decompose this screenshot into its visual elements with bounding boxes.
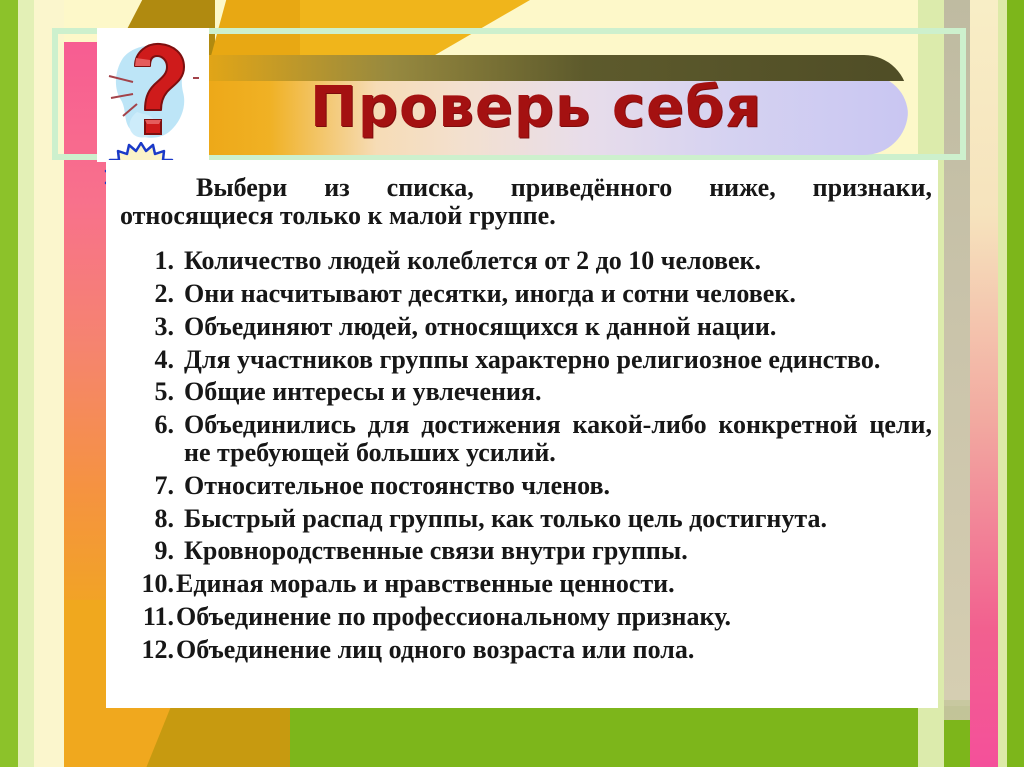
list-item: 1.Количество людей колеблется от 2 до 10…: [116, 247, 932, 275]
left-green-stripe: [0, 0, 18, 767]
list-item-text: Объединение лиц одного возраста или пола…: [176, 636, 932, 664]
list-item: 5.Общие интересы и увлечения.: [116, 378, 932, 406]
list-item-number: 9.: [116, 537, 184, 565]
list-item-text: Единая мораль и нравственные ценности.: [176, 570, 932, 598]
list-item-text: Объединились для достижения какой-либо к…: [184, 411, 932, 467]
list-item: 3.Объединяют людей, относящихся к данной…: [116, 313, 932, 341]
list-item-number: 4.: [116, 346, 184, 374]
list-item: 2.Они насчитывают десятки, иногда и сотн…: [116, 280, 932, 308]
right-green-stripe: [1007, 0, 1024, 767]
list-item-number: 8.: [116, 505, 184, 533]
right-pink-stripe: [970, 0, 998, 767]
list-item: 9.Кровнородственные связи внутри группы.: [116, 537, 932, 565]
list-item-text: Быстрый распад группы, как только цель д…: [184, 505, 932, 533]
list-item: 10.Единая мораль и нравственные ценности…: [116, 570, 932, 598]
list-item-number: 3.: [116, 313, 184, 341]
list-item-text: Количество людей колеблется от 2 до 10 ч…: [184, 247, 932, 275]
list-item-number: 11.: [116, 603, 176, 631]
list-item: 11.Объединение по профессиональному приз…: [116, 603, 932, 631]
list-item: 6.Объединились для достижения какой-либо…: [116, 411, 932, 467]
list-item-text: Они насчитывают десятки, иногда и сотни …: [184, 280, 932, 308]
criteria-list: 1.Количество людей колеблется от 2 до 10…: [116, 247, 932, 664]
page-title: Проверь себя: [310, 62, 870, 152]
list-item-text: Объединение по профессиональному признак…: [176, 603, 932, 631]
intro-text-value: Выбери из списка, приведённого ниже, при…: [120, 173, 932, 230]
bottom-green-band: [290, 706, 970, 767]
list-item-number: 6.: [116, 411, 184, 439]
list-item: 7.Относительное постоянство членов.: [116, 472, 932, 500]
intro-text: Выбери из списка, приведённого ниже, при…: [116, 174, 932, 229]
list-item-number: 12.: [116, 636, 176, 664]
list-item-text: Объединяют людей, относящихся к данной н…: [184, 313, 932, 341]
slide-canvas: Проверь себя 3 Выбери из списка, приведё…: [0, 0, 1024, 767]
list-item: 4.Для участников группы характерно религ…: [116, 346, 932, 374]
list-item-number: 1.: [116, 247, 184, 275]
list-item-number: 5.: [116, 378, 184, 406]
list-item-number: 10.: [116, 570, 176, 598]
right-pale-green-stripe: [998, 0, 1007, 767]
list-item: 12.Объединение лиц одного возраста или п…: [116, 636, 932, 664]
question-mark-graphic: [107, 36, 201, 148]
left-pale-green-stripe: [18, 0, 34, 767]
list-item-text: Для участников группы характерно религио…: [184, 346, 932, 374]
list-item-number: 2.: [116, 280, 184, 308]
content-sheet: Выбери из списка, приведённого ниже, при…: [106, 160, 938, 708]
list-item-number: 7.: [116, 472, 184, 500]
list-item-text: Кровнородственные связи внутри группы.: [184, 537, 932, 565]
list-item-text: Относительное постоянство членов.: [184, 472, 932, 500]
list-item-text: Общие интересы и увлечения.: [184, 378, 932, 406]
list-item: 8.Быстрый распад группы, как только цель…: [116, 505, 932, 533]
